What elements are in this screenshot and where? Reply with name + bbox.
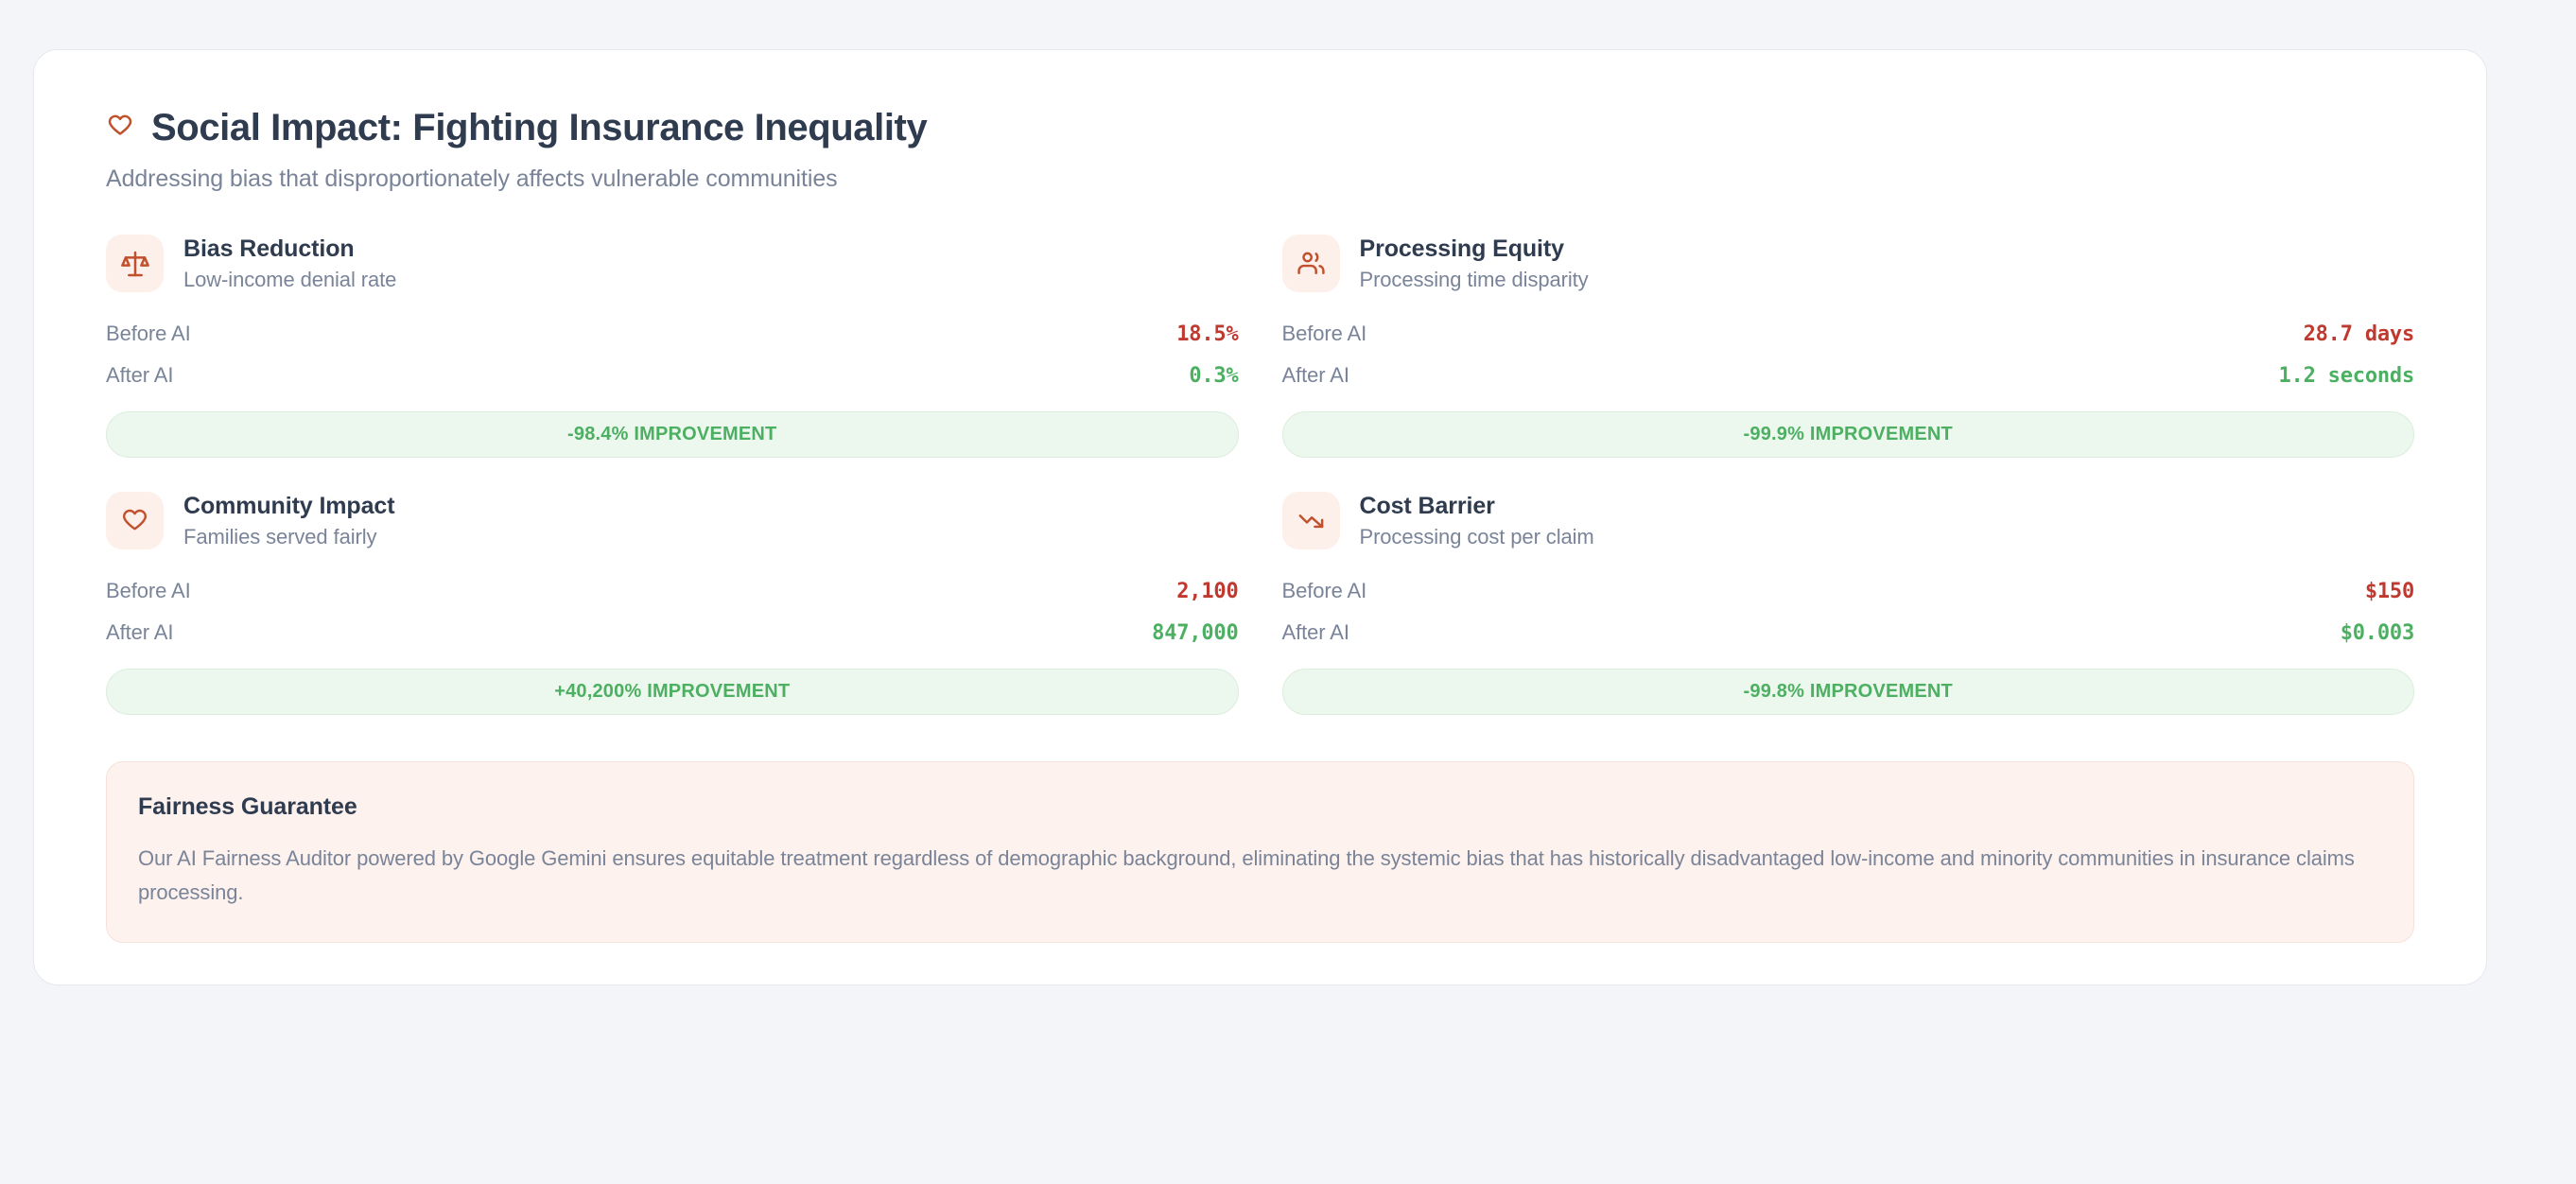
after-label: After AI — [106, 620, 173, 645]
after-label: After AI — [106, 363, 173, 388]
metric-row-before: Before AI $150 — [1282, 570, 2415, 612]
fairness-guarantee-title: Fairness Guarantee — [138, 793, 2382, 821]
page-root: Social Impact: Fighting Insurance Inequa… — [0, 0, 2576, 1184]
page-title: Social Impact: Fighting Insurance Inequa… — [151, 107, 927, 148]
before-label: Before AI — [1282, 322, 1367, 346]
metric-row-after: After AI 847,000 — [106, 612, 1239, 653]
scales-icon — [106, 235, 164, 292]
before-value: 28.7 days — [2304, 322, 2414, 346]
before-label: Before AI — [106, 322, 191, 346]
after-label: After AI — [1282, 620, 1349, 645]
improvement-badge: -99.8% IMPROVEMENT — [1282, 669, 2415, 715]
heart-icon — [106, 112, 134, 145]
trending-down-icon — [1282, 492, 1340, 549]
fairness-guarantee-body: Our AI Fairness Auditor powered by Googl… — [138, 842, 2382, 909]
metric-label: Cost Barrier — [1360, 493, 1594, 520]
metric-header-text: Community Impact Families served fairly — [183, 493, 394, 549]
metric-rows: Before AI 28.7 days After AI 1.2 seconds — [1282, 313, 2415, 396]
heart-icon — [106, 492, 164, 549]
metric-rows: Before AI $150 After AI $0.003 — [1282, 570, 2415, 653]
social-impact-panel: Social Impact: Fighting Insurance Inequa… — [33, 49, 2487, 985]
panel-subtitle: Addressing bias that disproportionately … — [106, 165, 2445, 194]
after-value: $0.003 — [2341, 621, 2414, 645]
metric-card-community-impact: Community Impact Families served fairly … — [106, 492, 1239, 715]
before-label: Before AI — [1282, 579, 1367, 603]
metric-header-text: Processing Equity Processing time dispar… — [1360, 235, 1589, 292]
users-icon — [1282, 235, 1340, 292]
after-value: 1.2 seconds — [2279, 364, 2415, 388]
panel-header: Social Impact: Fighting Insurance Inequa… — [76, 96, 2445, 194]
metric-label: Community Impact — [183, 493, 394, 520]
metric-row-before: Before AI 2,100 — [106, 570, 1239, 612]
metric-rows: Before AI 2,100 After AI 847,000 — [106, 570, 1239, 653]
improvement-badge: +40,200% IMPROVEMENT — [106, 669, 1239, 715]
metric-row-after: After AI $0.003 — [1282, 612, 2415, 653]
metrics-grid: Bias Reduction Low-income denial rate Be… — [76, 235, 2445, 715]
improvement-badge: -98.4% IMPROVEMENT — [106, 411, 1239, 458]
metric-row-before: Before AI 28.7 days — [1282, 313, 2415, 355]
before-value: $150 — [2365, 580, 2414, 603]
metric-header-text: Cost Barrier Processing cost per claim — [1360, 493, 1594, 549]
metric-sublabel: Processing time disparity — [1360, 268, 1589, 291]
metric-card-processing-equity: Processing Equity Processing time dispar… — [1282, 235, 2415, 458]
before-value: 2,100 — [1176, 580, 1238, 603]
after-value: 0.3% — [1189, 364, 1238, 388]
after-label: After AI — [1282, 363, 1349, 388]
metric-sublabel: Families served fairly — [183, 525, 394, 548]
metric-sublabel: Low-income denial rate — [183, 268, 396, 291]
metric-row-after: After AI 1.2 seconds — [1282, 355, 2415, 396]
metric-header: Bias Reduction Low-income denial rate — [106, 235, 1239, 292]
metric-card-bias-reduction: Bias Reduction Low-income denial rate Be… — [106, 235, 1239, 458]
panel-title-row: Social Impact: Fighting Insurance Inequa… — [106, 107, 2445, 148]
metric-row-after: After AI 0.3% — [106, 355, 1239, 396]
metric-label: Processing Equity — [1360, 235, 1589, 263]
metric-label: Bias Reduction — [183, 235, 396, 263]
fairness-guarantee-panel: Fairness Guarantee Our AI Fairness Audit… — [106, 761, 2414, 942]
metric-header: Community Impact Families served fairly — [106, 492, 1239, 549]
metric-row-before: Before AI 18.5% — [106, 313, 1239, 355]
improvement-badge: -99.9% IMPROVEMENT — [1282, 411, 2415, 458]
after-value: 847,000 — [1152, 621, 1238, 645]
metric-card-cost-barrier: Cost Barrier Processing cost per claim B… — [1282, 492, 2415, 715]
metric-rows: Before AI 18.5% After AI 0.3% — [106, 313, 1239, 396]
before-value: 18.5% — [1176, 322, 1238, 346]
metric-header: Cost Barrier Processing cost per claim — [1282, 492, 2415, 549]
metric-header-text: Bias Reduction Low-income denial rate — [183, 235, 396, 292]
before-label: Before AI — [106, 579, 191, 603]
metric-sublabel: Processing cost per claim — [1360, 525, 1594, 548]
metric-header: Processing Equity Processing time dispar… — [1282, 235, 2415, 292]
